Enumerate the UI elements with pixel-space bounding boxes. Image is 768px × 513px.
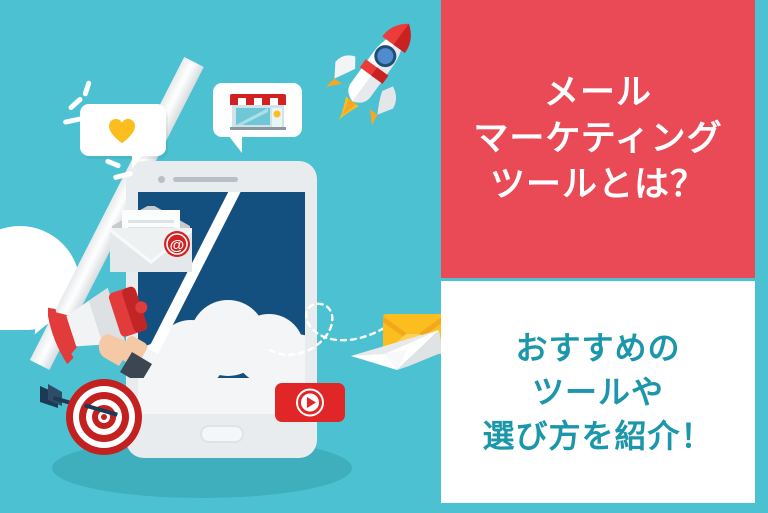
store-bubble-tail bbox=[228, 135, 242, 153]
sparkle-dash bbox=[82, 80, 92, 97]
subheading-panel: おすすめの ツールや 選び方を紹介！ bbox=[441, 281, 755, 503]
headline-line-1: メール bbox=[544, 70, 652, 116]
phone-home-button bbox=[200, 425, 244, 443]
play-button[interactable] bbox=[275, 383, 345, 422]
megaphone-icon bbox=[48, 278, 166, 378]
heart-icon bbox=[108, 118, 136, 144]
envelope-at-icon: @ bbox=[106, 206, 196, 276]
paper-plane-icon bbox=[351, 330, 441, 372]
subheading-line-1: おすすめの bbox=[515, 326, 680, 370]
target-icon bbox=[65, 378, 143, 456]
heart-bubble-tail bbox=[132, 150, 147, 169]
headline-line-3: ツールとは？ bbox=[490, 162, 706, 208]
svg-text:@: @ bbox=[170, 237, 185, 254]
subheading-line-2: ツールや bbox=[532, 370, 664, 414]
sparkle-dash bbox=[105, 158, 122, 169]
play-icon bbox=[275, 383, 345, 422]
subheading-line-3: 選び方を紹介！ bbox=[482, 414, 713, 458]
storefront-icon bbox=[228, 91, 288, 131]
headline-panel: メール マーケティング ツールとは？ bbox=[441, 0, 755, 278]
phone-camera-icon bbox=[158, 176, 165, 183]
rocket-icon bbox=[327, 14, 431, 136]
illustration-area: @ bbox=[0, 0, 441, 513]
banner-canvas: @ bbox=[0, 0, 768, 513]
headline-line-2: マーケティング bbox=[473, 116, 722, 162]
phone-speaker bbox=[173, 177, 238, 182]
